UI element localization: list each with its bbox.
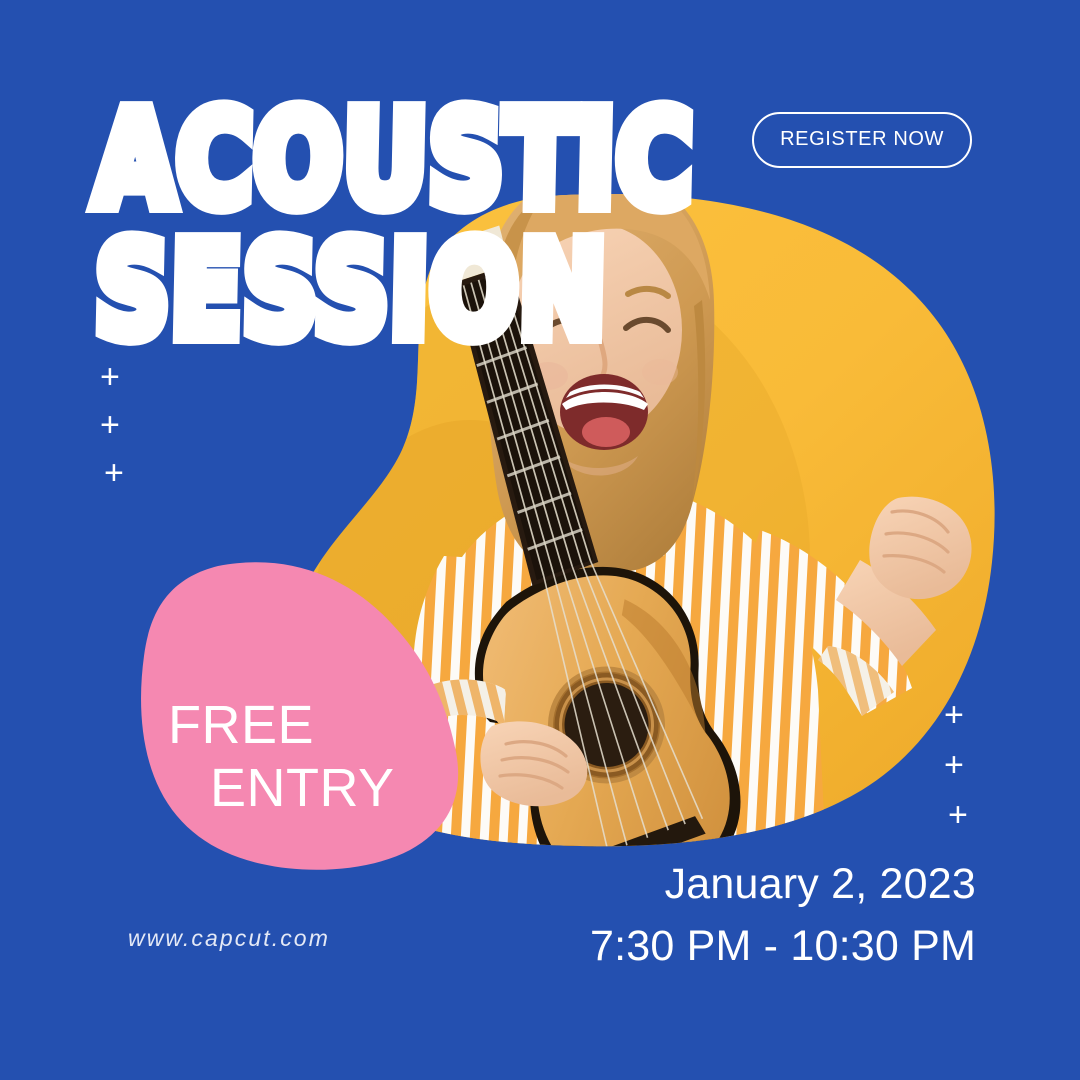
- plus-icon-right-2: +: [944, 748, 964, 782]
- title-line-2: SESSION: [94, 235, 695, 348]
- plus-icon-left-2: +: [100, 408, 120, 442]
- event-time: 7:30 PM - 10:30 PM: [590, 920, 976, 974]
- plus-icon-right-1: +: [944, 698, 964, 732]
- event-datetime: January 2, 2023 7:30 PM - 10:30 PM: [590, 858, 976, 974]
- register-now-button[interactable]: REGISTER NOW: [752, 112, 972, 168]
- poster-title: ACOUSTIC SESSION: [96, 104, 695, 345]
- poster-canvas: ACOUSTIC SESSION REGISTER NOW FREE ENTRY…: [0, 0, 1080, 1080]
- plus-icon-left-3: +: [104, 456, 124, 490]
- free-entry-badge: FREE ENTRY: [158, 694, 395, 820]
- plus-icon-right-3: +: [948, 798, 968, 832]
- free-entry-line-2: ENTRY: [158, 757, 395, 820]
- free-entry-line-1: FREE: [158, 694, 395, 757]
- event-date: January 2, 2023: [590, 858, 976, 912]
- title-line-1: ACOUSTIC: [94, 104, 695, 217]
- website-url: www.capcut.com: [128, 925, 330, 952]
- plus-icon-left-1: +: [100, 360, 120, 394]
